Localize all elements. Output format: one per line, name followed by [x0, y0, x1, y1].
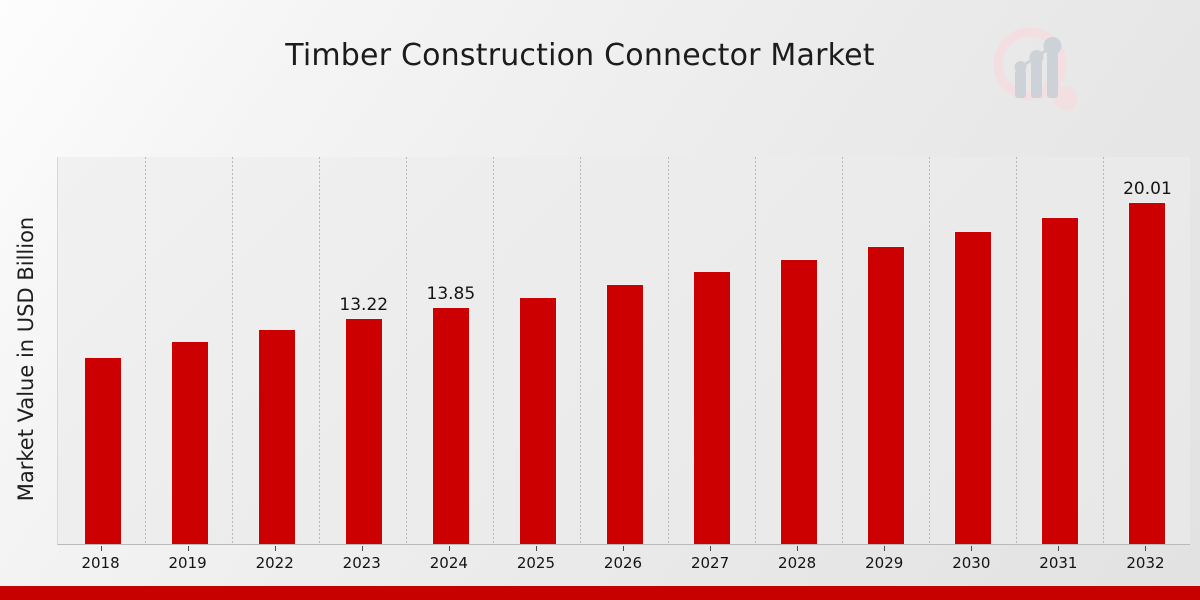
x-tick-mark — [449, 546, 450, 551]
x-tick-label: 2027 — [691, 554, 729, 572]
bar-value-label: 13.22 — [339, 295, 388, 315]
bar[interactable] — [954, 231, 992, 544]
bar[interactable] — [867, 246, 905, 544]
bars-layer: 13.2213.8520.01 — [58, 157, 1190, 544]
x-tick-mark — [971, 546, 972, 551]
chart-page: Timber Construction Connector Market Mar… — [0, 0, 1200, 600]
bar[interactable] — [1041, 217, 1079, 544]
footer-strip — [0, 586, 1200, 600]
x-tick-mark — [1058, 546, 1059, 551]
x-tick-label: 2031 — [1039, 554, 1077, 572]
bar[interactable] — [171, 341, 209, 544]
x-tick-mark — [710, 546, 711, 551]
bar[interactable] — [606, 284, 644, 544]
bar[interactable] — [84, 357, 122, 544]
bar[interactable]: 13.22 — [345, 318, 383, 544]
x-tick-label: 2024 — [430, 554, 468, 572]
bar[interactable]: 20.01 — [1128, 202, 1166, 544]
bar[interactable] — [693, 271, 731, 544]
x-tick-label: 2019 — [169, 554, 207, 572]
x-tick-mark — [188, 546, 189, 551]
bar[interactable] — [258, 329, 296, 544]
x-tick-mark — [797, 546, 798, 551]
x-axis: 2018201920222023202420252026202720282029… — [57, 546, 1190, 582]
y-axis-label: Market Value in USD Billion — [14, 159, 38, 559]
x-tick-mark — [1145, 546, 1146, 551]
x-tick-mark — [623, 546, 624, 551]
plot-area: 13.2213.8520.01 — [57, 157, 1190, 545]
bar-value-label: 13.85 — [427, 284, 476, 304]
x-tick-label: 2032 — [1126, 554, 1164, 572]
x-tick-label: 2025 — [517, 554, 555, 572]
bar-value-label: 20.01 — [1123, 179, 1172, 199]
x-tick-label: 2029 — [865, 554, 903, 572]
market-research-magnifier-logo — [985, 22, 1081, 114]
x-tick-label: 2023 — [343, 554, 381, 572]
x-tick-label: 2022 — [256, 554, 294, 572]
x-tick-label: 2026 — [604, 554, 642, 572]
x-tick-label: 2018 — [81, 554, 119, 572]
x-tick-mark — [101, 546, 102, 551]
bar[interactable] — [519, 297, 557, 544]
x-tick-mark — [536, 546, 537, 551]
x-tick-label: 2028 — [778, 554, 816, 572]
x-tick-mark — [884, 546, 885, 551]
bar[interactable]: 13.85 — [432, 307, 470, 544]
bar[interactable] — [780, 259, 818, 544]
x-tick-mark — [362, 546, 363, 551]
x-tick-mark — [275, 546, 276, 551]
x-tick-label: 2030 — [952, 554, 990, 572]
